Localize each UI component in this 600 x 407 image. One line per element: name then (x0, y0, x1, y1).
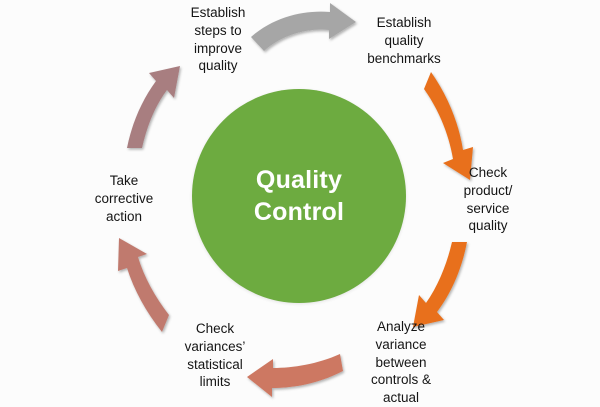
step-line: quality (168, 57, 268, 75)
arrow-right-lower-orange-icon (413, 242, 467, 327)
quality-control-hub: Quality Control (192, 89, 406, 303)
step-line: steps to (168, 22, 268, 40)
step-label-establish-steps: Establish steps to improve quality (168, 4, 268, 75)
step-line: Establish (352, 14, 456, 32)
step-line: limits (166, 373, 264, 391)
step-line: corrective (78, 190, 170, 208)
step-line: product/ (440, 182, 536, 200)
step-line: statistical (166, 356, 264, 374)
hub-title-line-2: Control (254, 196, 344, 228)
step-line: action (78, 208, 170, 226)
step-label-take-corrective-action: Take corrective action (78, 172, 170, 225)
step-line: variances’ (166, 338, 264, 356)
step-line: between (352, 354, 450, 372)
step-line: benchmarks (352, 50, 456, 68)
quality-control-cycle-diagram: Quality Control Establish steps to impro… (0, 0, 600, 403)
step-label-analyze-variance: Analyze variance between controls & actu… (352, 318, 450, 407)
arrow-left-upper-mauve-icon (127, 66, 180, 148)
hub-title-line-1: Quality (256, 164, 342, 196)
step-line: quality (352, 32, 456, 50)
step-label-establish-benchmarks: Establish quality benchmarks (352, 14, 456, 67)
step-line: Establish (168, 4, 268, 22)
arrow-left-lower-rosy-icon (118, 238, 169, 332)
step-line: actual (352, 389, 450, 407)
step-line: Check (166, 320, 264, 338)
step-line: service (440, 200, 536, 218)
step-line: variance (352, 336, 450, 354)
step-line: Take (78, 172, 170, 190)
step-line: quality (440, 217, 536, 235)
step-line: improve (168, 40, 268, 58)
step-line: Analyze (352, 318, 450, 336)
step-line: controls & (352, 371, 450, 389)
step-label-check-product: Check product/ service quality (440, 164, 536, 235)
step-label-check-variances: Check variances’ statistical limits (166, 320, 264, 391)
step-line: Check (440, 164, 536, 182)
